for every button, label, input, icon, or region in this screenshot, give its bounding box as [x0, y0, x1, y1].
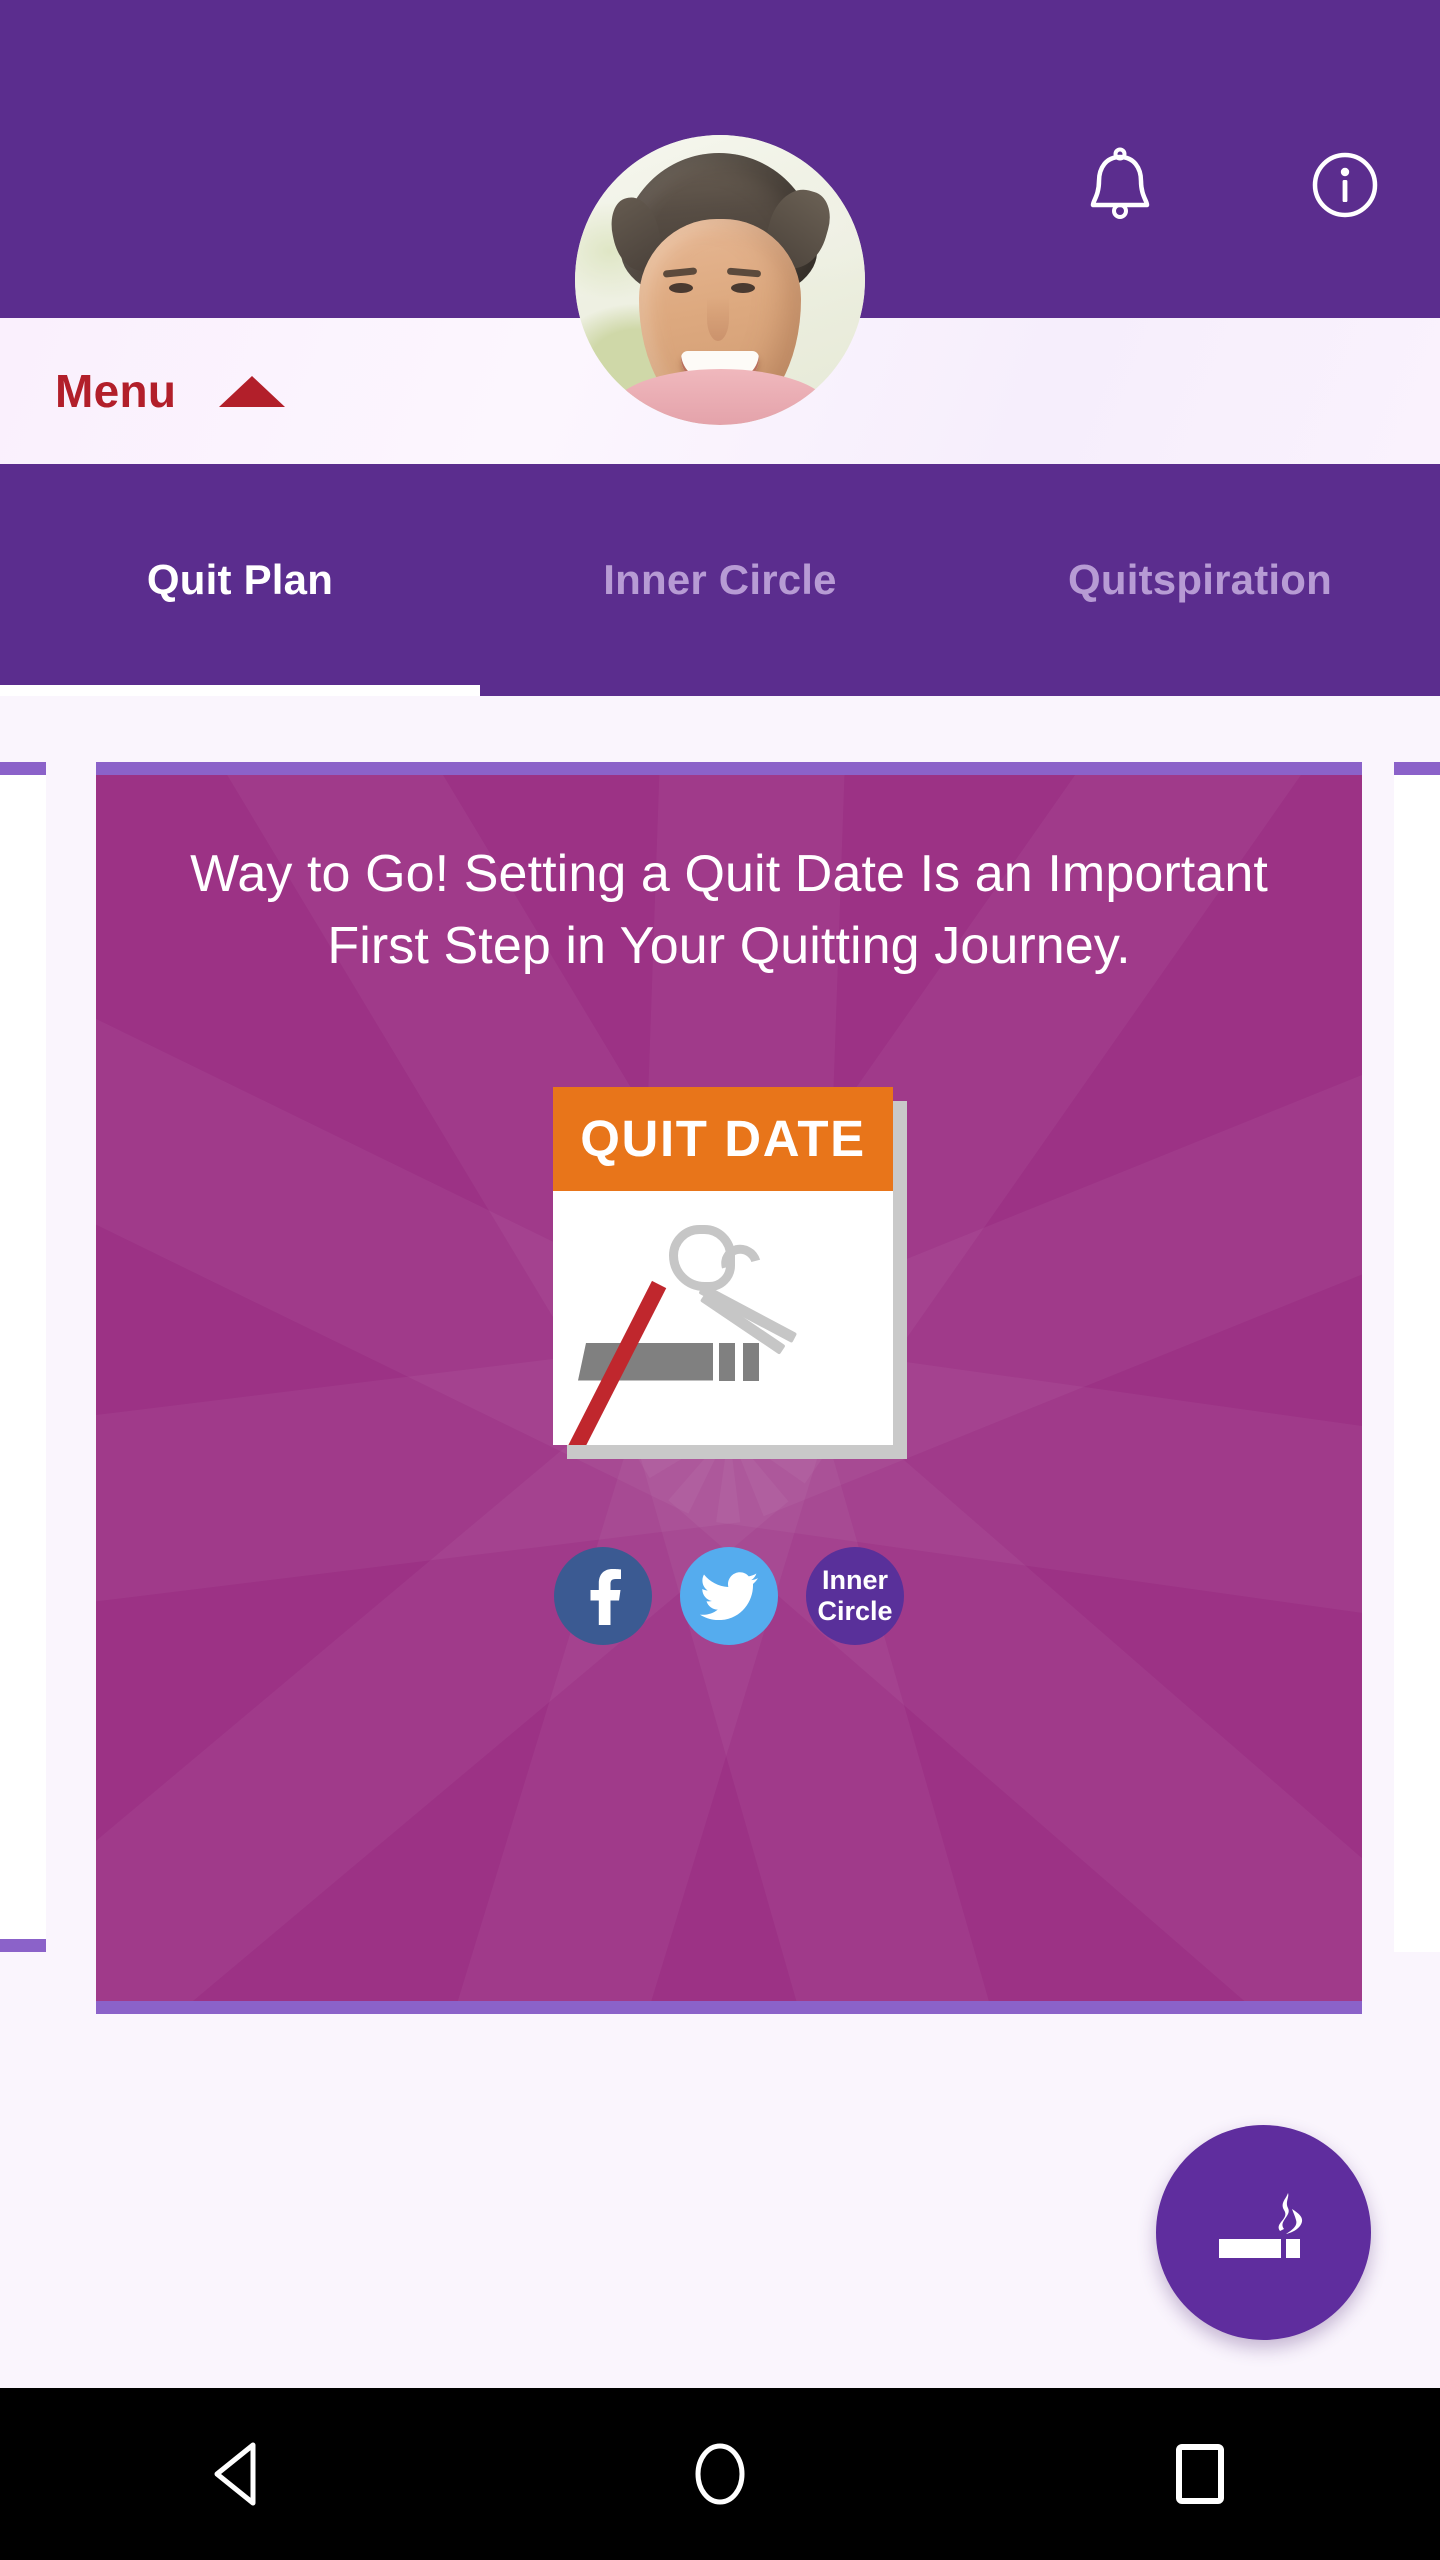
avatar-shirt — [611, 369, 831, 425]
inner-circle-label-line1: Inner — [822, 1565, 888, 1595]
carousel-card-next[interactable] — [1394, 762, 1440, 1952]
facebook-icon — [579, 1567, 627, 1625]
avatar-nose — [707, 297, 729, 341]
cigarette-filter-segment-1 — [719, 1343, 735, 1381]
tab-inner-circle-label: Inner Circle — [603, 556, 836, 604]
inner-circle-label-line2: Circle — [817, 1596, 892, 1626]
avatar-photo — [575, 135, 865, 425]
calendar-body: QUIT DATE — [553, 1087, 893, 1445]
share-buttons: Inner Circle — [554, 1547, 904, 1645]
cigarette-body — [578, 1343, 713, 1381]
android-navigation-bar — [0, 2388, 1440, 2560]
avatar[interactable] — [575, 135, 865, 425]
card-title: Way to Go! Setting a Quit Date Is an Imp… — [169, 839, 1289, 983]
log-cigarette-fab[interactable] — [1156, 2125, 1371, 2340]
twitter-bird-icon — [700, 1572, 758, 1620]
tab-quitspiration-label: Quitspiration — [1068, 556, 1332, 604]
home-circle-icon — [681, 2435, 759, 2513]
notifications-button[interactable] — [1060, 125, 1180, 245]
share-inner-circle-button[interactable]: Inner Circle — [806, 1547, 904, 1645]
app-root: Menu Quit Plan Inner Circle Quitspiratio… — [0, 0, 1440, 2560]
info-circle-icon — [1311, 151, 1379, 219]
share-facebook-button[interactable] — [554, 1547, 652, 1645]
carousel-card-previous[interactable] — [0, 762, 46, 1952]
share-twitter-button[interactable] — [680, 1547, 778, 1645]
nav-back-button[interactable] — [0, 2435, 480, 2513]
avatar-eye-left — [669, 283, 693, 293]
avatar-brow-left — [663, 267, 698, 278]
no-smoking-icon — [553, 1191, 893, 1445]
calendar-header: QUIT DATE — [553, 1087, 893, 1191]
recents-square-icon — [1161, 2435, 1239, 2513]
card-bottom-accent — [96, 2001, 1362, 2014]
avatar-eye-right — [731, 283, 755, 293]
nav-recents-button[interactable] — [960, 2435, 1440, 2513]
tab-quit-plan[interactable]: Quit Plan — [0, 464, 480, 696]
quit-date-calendar-image: QUIT DATE — [553, 1087, 905, 1455]
tab-quitspiration[interactable]: Quitspiration — [960, 464, 1440, 696]
nav-home-button[interactable] — [480, 2435, 960, 2513]
calendar-header-text: QUIT DATE — [580, 1109, 865, 1168]
tab-inner-circle[interactable]: Inner Circle — [480, 464, 960, 696]
avatar-brow-right — [727, 268, 761, 278]
cigarette-icon — [1214, 2187, 1314, 2279]
card-top-accent — [96, 762, 1362, 775]
caret-up-icon[interactable] — [219, 376, 285, 407]
menu-label[interactable]: Menu — [55, 364, 176, 418]
cigarette-filter-segment-2 — [743, 1343, 759, 1381]
back-triangle-icon — [201, 2435, 279, 2513]
info-button[interactable] — [1285, 125, 1405, 245]
quit-date-card[interactable]: Way to Go! Setting a Quit Date Is an Imp… — [96, 762, 1362, 2014]
tab-bar: Quit Plan Inner Circle Quitspiration — [0, 464, 1440, 696]
tab-quit-plan-label: Quit Plan — [147, 556, 333, 604]
bell-icon — [1084, 147, 1156, 223]
